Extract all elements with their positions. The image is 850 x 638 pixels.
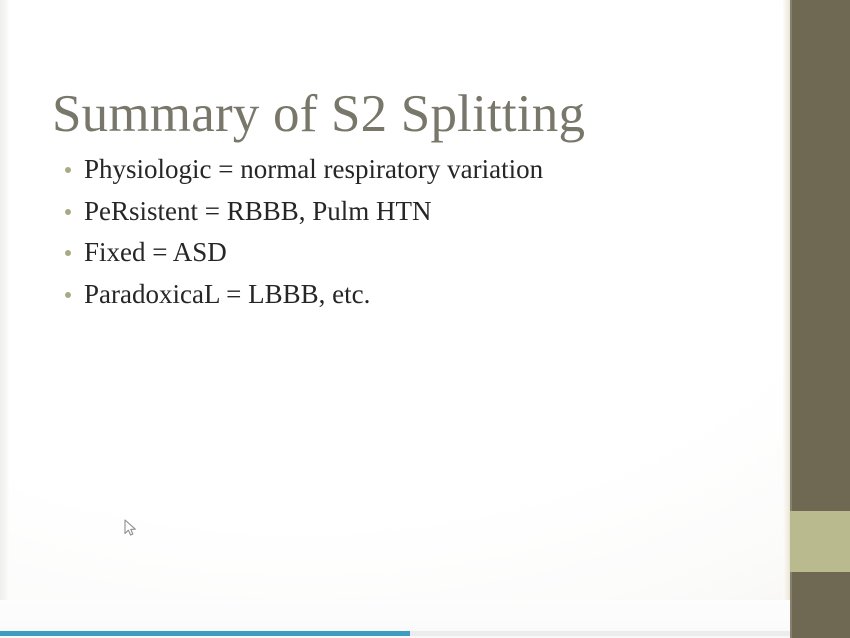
list-item-label: PeRsistent = RBBB, Pulm HTN xyxy=(84,196,432,226)
list-item: Physiologic = normal respiratory variati… xyxy=(62,155,762,184)
list-item: Fixed = ASD xyxy=(62,238,762,267)
list-item-label: Fixed = ASD xyxy=(84,237,227,267)
presentation-slide[interactable]: Summary of S2 Splitting Physiologic = no… xyxy=(0,0,792,638)
bullet-dot-icon xyxy=(65,167,71,173)
bullet-dot-icon xyxy=(65,209,71,215)
list-item-label: ParadoxicaL = LBBB, etc. xyxy=(84,279,370,309)
list-item-label: Physiologic = normal respiratory variati… xyxy=(84,154,543,184)
video-progress-track[interactable] xyxy=(0,631,790,636)
screen: Summary of S2 Splitting Physiologic = no… xyxy=(0,0,850,638)
bullet-dot-icon xyxy=(65,250,71,256)
bullet-dot-icon xyxy=(65,292,71,298)
list-item: PeRsistent = RBBB, Pulm HTN xyxy=(62,197,762,226)
video-progress-fill[interactable] xyxy=(0,631,410,636)
side-panel-highlight-block xyxy=(790,511,850,572)
slide-side-panel xyxy=(790,0,850,638)
arrow-cursor-icon xyxy=(124,519,137,536)
slide-title: Summary of S2 Splitting xyxy=(52,86,752,143)
slide-left-gutter xyxy=(0,0,9,638)
list-item: ParadoxicaL = LBBB, etc. xyxy=(62,280,762,309)
slide-bullet-list: Physiologic = normal respiratory variati… xyxy=(62,155,762,321)
